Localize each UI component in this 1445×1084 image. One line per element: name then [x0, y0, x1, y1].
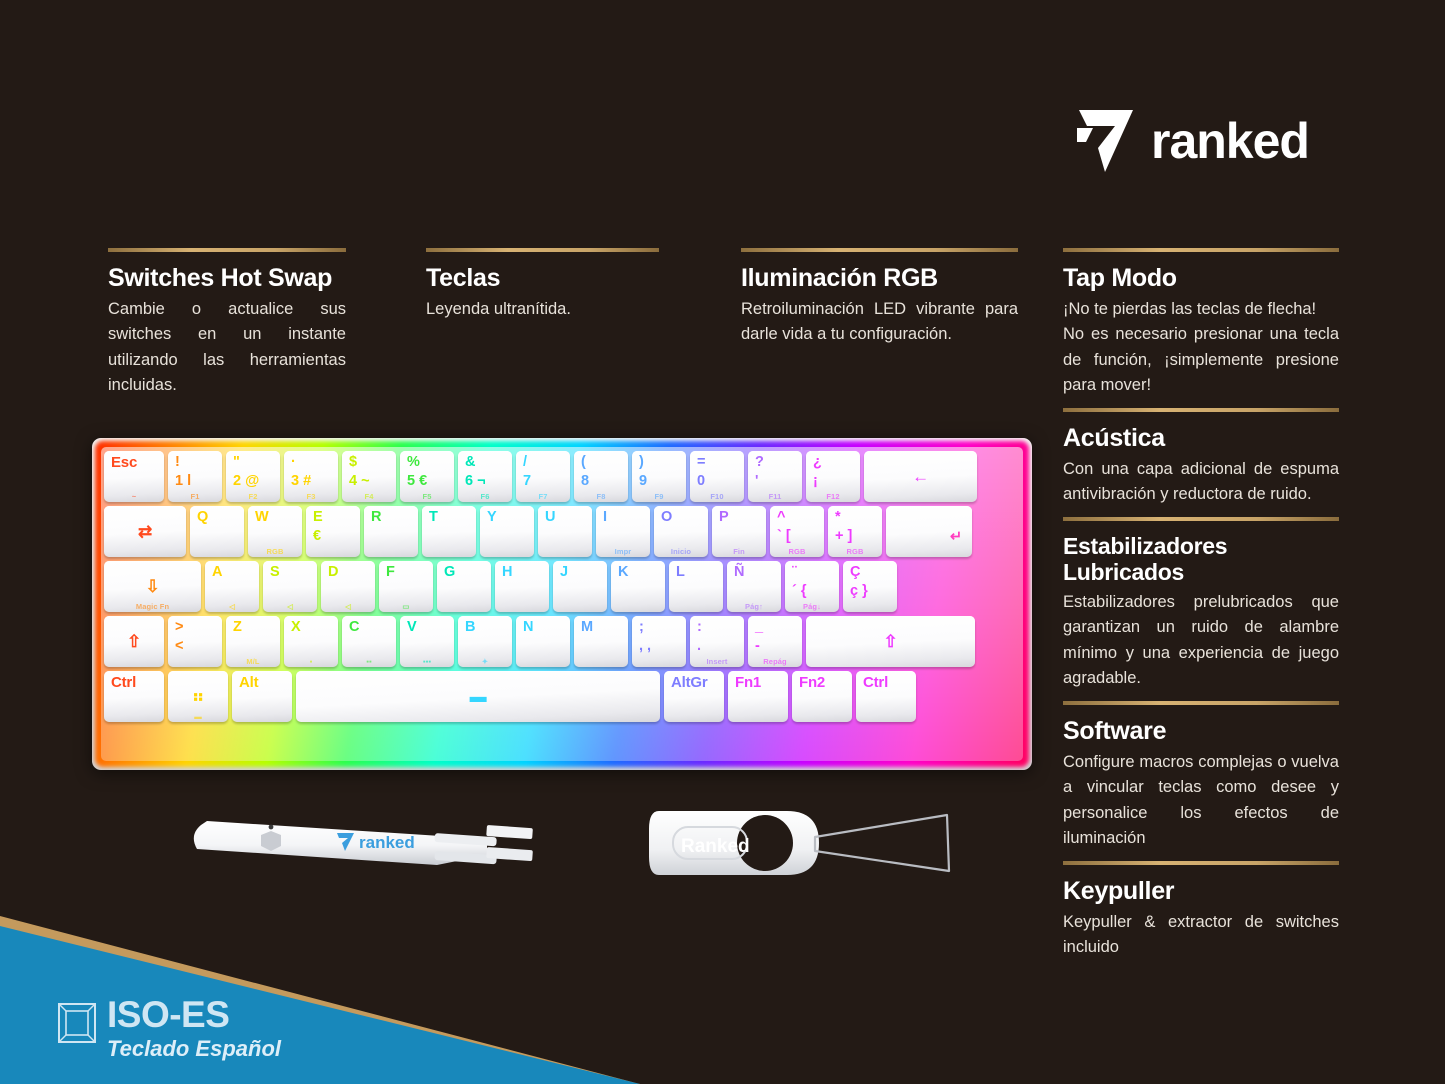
key-altgr[interactable]: AltGr [664, 671, 724, 722]
key--[interactable]: ← [864, 451, 977, 502]
key--[interactable]: ¨´ {Pág↓ [785, 561, 839, 612]
key-legend-sublabel: ▬ [168, 712, 228, 721]
key-legend-primary: ⇧ [883, 633, 897, 651]
key-legend-primary: ⇄ [138, 523, 152, 541]
key-legend-primary: ( [581, 455, 622, 470]
key-legend-primary: W [255, 510, 296, 525]
brand-logo: ranked [1075, 108, 1309, 174]
key-legend-sublabel: ▭ [379, 602, 433, 611]
feature-acustica: Acústica Con una capa adicional de espum… [1063, 408, 1339, 508]
switch-puller-tool-icon: ranked [187, 805, 557, 885]
key-h[interactable]: H [495, 561, 549, 612]
key-d[interactable]: D◁ [321, 561, 375, 612]
key-z[interactable]: ZM/L [226, 616, 280, 667]
key-legend-primary: V [407, 620, 448, 635]
key--[interactable]: ⇄ [104, 506, 186, 557]
key-legend-sublabel: RGB [828, 547, 882, 556]
key--[interactable]: ^` [RGB [770, 506, 824, 557]
key-legend-primary: ⠶ [192, 688, 204, 706]
key-e[interactable]: E€ [306, 506, 360, 557]
gold-rule [1063, 517, 1339, 521]
gold-rule [1063, 861, 1339, 865]
key-row-1: Esc~!1 lF1"2 @F2·3 #F3$4 ~F4%5 €F5&6 ¬F6… [104, 451, 1020, 502]
right-feature-list: Tap Modo ¡No te pierdas las teclas de fl… [1063, 248, 1339, 970]
key-k[interactable]: K [611, 561, 665, 612]
gold-rule [426, 248, 659, 252]
feature-body: Cambie o actualice sus switches en un in… [108, 297, 346, 399]
key-legend-primary: L [676, 565, 717, 580]
key--[interactable]: =0F10 [690, 451, 744, 502]
key--[interactable]: ⠶▬ [168, 671, 228, 722]
key-legend-secondary: € [313, 528, 354, 545]
feature-software: Software Configure macros complejas o vu… [1063, 701, 1339, 852]
top-feature-list: Switches Hot Swap Cambie o actualice sus… [108, 248, 1023, 399]
key-legend-sublabel: F12 [806, 492, 860, 501]
key--[interactable]: /7F7 [516, 451, 570, 502]
key-legend-primary: Esc [111, 455, 158, 471]
key--[interactable]: &6 ¬F6 [458, 451, 512, 502]
key-legend-primary: S [270, 565, 311, 580]
key-legend-sublabel: F7 [516, 492, 570, 501]
key-legend-sublabel: ◁ [321, 602, 375, 611]
key-w[interactable]: WRGB [248, 506, 302, 557]
key-legend-primary: ) [639, 455, 680, 470]
key-legend-secondary: + ] [835, 528, 876, 545]
key-legend-primary: Ñ [734, 565, 775, 580]
key-legend-sublabel: Pág↑ [727, 602, 781, 611]
key-legend-sublabel: Magic Fn [104, 602, 201, 611]
key-legend-sublabel: F10 [690, 492, 744, 501]
key-u[interactable]: U [538, 506, 592, 557]
key-legend-secondary: 1 l [175, 473, 216, 490]
key-legend-sublabel: F6 [458, 492, 512, 501]
key-l[interactable]: L [669, 561, 723, 612]
key-legend-primary: I [603, 510, 644, 525]
key-legend-primary: ? [755, 455, 796, 470]
key-legend-primary: M [581, 620, 622, 635]
key--[interactable]: ⇧ [104, 616, 164, 667]
key-legend-sublabel: Fin [712, 547, 766, 556]
key--[interactable]: ;, , [632, 616, 686, 667]
key-legend-primary: / [523, 455, 564, 470]
key-legend-primary: E [313, 510, 354, 525]
key--[interactable]: )9F9 [632, 451, 686, 502]
key-legend-secondary: . [697, 638, 738, 655]
feature-body: Keypuller & extractor de switches inclui… [1063, 910, 1339, 961]
feature-body: Leyenda ultranítida. [426, 297, 659, 323]
key-row-5: Ctrl⠶▬Alt▬AltGrFn1Fn2Ctrl [104, 671, 1020, 722]
keyboard-product-image: Esc~!1 lF1"2 @F2·3 #F3$4 ~F4%5 €F5&6 ¬F6… [92, 438, 1032, 770]
key-y[interactable]: Y [480, 506, 534, 557]
feature-title: Iluminación RGB [741, 264, 1018, 293]
key-legend-secondary: 8 [581, 473, 622, 490]
key-legend-sublabel: F4 [342, 492, 396, 501]
key-legend-primary: C [349, 620, 390, 635]
key--[interactable]: ↵ [886, 506, 972, 557]
key-legend-primary: ⇧ [127, 633, 141, 651]
feature-teclas: Teclas Leyenda ultranítida. [426, 248, 659, 399]
key-legend-primary: ! [175, 455, 216, 470]
key-x[interactable]: X▪ [284, 616, 338, 667]
key-legend-primary: Z [233, 620, 274, 635]
key-m[interactable]: M [574, 616, 628, 667]
key-fn2[interactable]: Fn2 [792, 671, 852, 722]
key-legend-sublabel: ✦ [458, 657, 512, 666]
key-legend-secondary: 6 ¬ [465, 473, 506, 490]
key-legend-primary: Fn2 [799, 675, 846, 691]
key--[interactable]: ⇧ [806, 616, 975, 667]
key-legend-primary: · [291, 455, 332, 470]
key--[interactable]: ?'F11 [748, 451, 802, 502]
key-legend-sublabel: ~ [104, 492, 164, 501]
key--[interactable]: !1 lF1 [168, 451, 222, 502]
key-legend-primary: N [523, 620, 564, 635]
key--[interactable]: :.Insert [690, 616, 744, 667]
key-o[interactable]: OInicio [654, 506, 708, 557]
key-legend-sublabel: F1 [168, 492, 222, 501]
iso-es-badge: ISO-ES Teclado Español [57, 996, 281, 1063]
key-q[interactable]: Q [190, 506, 244, 557]
key-legend-primary: = [697, 455, 738, 470]
key-legend-sublabel: F5 [400, 492, 454, 501]
key--[interactable]: >< [168, 616, 222, 667]
key--[interactable]: ¿¡F12 [806, 451, 860, 502]
key-legend-primary: % [407, 455, 448, 470]
key-t[interactable]: T [422, 506, 476, 557]
key-legend-primary: Ctrl [863, 675, 910, 691]
key--[interactable]: ⇩Magic Fn [104, 561, 201, 612]
feature-title: Teclas [426, 264, 659, 293]
feature-body: Con una capa adicional de espuma antivib… [1063, 457, 1339, 508]
key-legend-primary: J [560, 565, 601, 580]
key-legend-primary: Q [197, 510, 238, 525]
key-p[interactable]: PFin [712, 506, 766, 557]
keypuller-tool-icon: Ranked [647, 801, 967, 886]
key-i[interactable]: IImpr [596, 506, 650, 557]
key--[interactable]: %5 €F5 [400, 451, 454, 502]
key-legend-primary: ▬ [470, 688, 487, 706]
key-legend-sublabel: Inicio [654, 547, 708, 556]
key-legend-primary: R [371, 510, 412, 525]
key-legend-secondary: < [175, 638, 216, 655]
key-legend-sublabel: F11 [748, 492, 802, 501]
key-legend-sublabel: F8 [574, 492, 628, 501]
key-legend-primary: H [502, 565, 543, 580]
iso-badge-subtitle: Teclado Español [107, 1035, 281, 1063]
key-legend-secondary: ´ { [792, 583, 833, 600]
key-v[interactable]: V▪▪▪ [400, 616, 454, 667]
feature-keypuller: Keypuller Keypuller & extractor de switc… [1063, 861, 1339, 961]
key-ctrl[interactable]: Ctrl [104, 671, 164, 722]
key-b[interactable]: B✦ [458, 616, 512, 667]
key-r[interactable]: R [364, 506, 418, 557]
key--[interactable]: ▬ [296, 671, 660, 722]
key--[interactable]: _-Repág [748, 616, 802, 667]
ranked-arrow-logo-icon [1075, 108, 1137, 174]
key-legend-primary: G [444, 565, 485, 580]
key-legend-secondary: , , [639, 638, 680, 655]
key-row-4: ⇧><ZM/LX▪C▪▪V▪▪▪B✦NM;, ,:.Insert_-Repág⇧ [104, 616, 1020, 667]
key-ctrl[interactable]: Ctrl [856, 671, 916, 722]
key-esc[interactable]: Esc~ [104, 451, 164, 502]
gold-rule [108, 248, 346, 252]
key-legend-sublabel: Insert [690, 657, 744, 666]
key-legend-secondary: 3 # [291, 473, 332, 490]
key-legend-primary: Y [487, 510, 528, 525]
feature-title: Keypuller [1063, 877, 1339, 906]
key-f[interactable]: F▭ [379, 561, 433, 612]
key-legend-primary: $ [349, 455, 390, 470]
key-legend-primary: X [291, 620, 332, 635]
key-legend-sublabel: Impr [596, 547, 650, 556]
gold-rule [741, 248, 1018, 252]
key-j[interactable]: J [553, 561, 607, 612]
keycap-cube-icon [57, 1002, 97, 1044]
key-legend-primary: U [545, 510, 586, 525]
key-legend-sublabel: F9 [632, 492, 686, 501]
svg-text:ranked: ranked [359, 833, 415, 852]
key-legend-sublabel: F3 [284, 492, 338, 501]
key-legend-primary: Ctrl [111, 675, 158, 691]
key-legend-secondary: 5 € [407, 473, 448, 490]
key-legend-primary: O [661, 510, 702, 525]
key-legend-secondary: ' [755, 473, 796, 490]
key-legend-sublabel: F2 [226, 492, 280, 501]
feature-tap-modo: Tap Modo ¡No te pierdas las teclas de fl… [1063, 248, 1339, 399]
key-legend-primary: > [175, 620, 216, 635]
key-legend-primary: ^ [777, 510, 818, 525]
iso-badge-title: ISO-ES [107, 996, 281, 1033]
key-legend-primary: ; [639, 620, 680, 635]
feature-title: Tap Modo [1063, 264, 1339, 293]
key-legend-secondary: 2 @ [233, 473, 274, 490]
key-rows: Esc~!1 lF1"2 @F2·3 #F3$4 ~F4%5 €F5&6 ¬F6… [104, 451, 1020, 726]
key-legend-primary: Alt [239, 675, 286, 691]
key-row-2: ⇄QWRGBE€RTYUIImprOInicioPFin^` [RGB*+ ]R… [104, 506, 1020, 557]
key--[interactable]: "2 @F2 [226, 451, 280, 502]
key-legend-primary: F [386, 565, 427, 580]
feature-title: Estabilizadores Lubricados [1063, 533, 1339, 586]
key-legend-primary: Fn1 [735, 675, 782, 691]
feature-body: Estabilizadores prelubricados que garant… [1063, 590, 1339, 692]
key-n[interactable]: N [516, 616, 570, 667]
key-legend-primary: T [429, 510, 470, 525]
key-legend-primary: & [465, 455, 506, 470]
key--[interactable]: $4 ~F4 [342, 451, 396, 502]
feature-title: Acústica [1063, 424, 1339, 453]
key-legend-sublabel: ▪▪▪ [400, 657, 454, 666]
key--[interactable]: (8F8 [574, 451, 628, 502]
gold-rule [1063, 248, 1339, 252]
feature-title: Software [1063, 717, 1339, 746]
key-legend-primary: ¿ [813, 455, 854, 470]
key-legend-secondary: 4 ~ [349, 473, 390, 490]
feature-body: Retroiluminación LED vibrante para darle… [741, 297, 1018, 348]
key-legend-secondary: 9 [639, 473, 680, 490]
key-row-3: ⇩Magic FnA◁S◁D◁F▭GHJKLÑPág↑¨´ {Pág↓Çç } [104, 561, 1020, 612]
key-legend-secondary: ` [ [777, 528, 818, 545]
key-legend-primary: AltGr [671, 675, 718, 691]
feature-estabilizadores-lubricados: Estabilizadores Lubricados Estabilizador… [1063, 517, 1339, 692]
key-legend-sublabel: M/L [226, 657, 280, 666]
key--[interactable]: Çç } [843, 561, 897, 612]
key--[interactable]: ÑPág↑ [727, 561, 781, 612]
key-legend-primary: ¨ [792, 565, 833, 580]
key-legend-primary: : [697, 620, 738, 635]
key-legend-sublabel: ▪▪ [342, 657, 396, 666]
key-legend-secondary: - [755, 638, 796, 655]
key-legend-primary: P [719, 510, 760, 525]
accessories-row: ranked Ranked [92, 795, 1032, 900]
gold-rule [1063, 701, 1339, 705]
key-c[interactable]: C▪▪ [342, 616, 396, 667]
brand-wordmark: ranked [1151, 116, 1309, 166]
feature-body: Configure macros complejas o vuelva a vi… [1063, 750, 1339, 852]
keypuller-label: Ranked [681, 836, 750, 857]
feature-iluminacion-rgb: Iluminación RGB Retroiluminación LED vib… [741, 248, 1018, 399]
key-legend-secondary: ç } [850, 583, 891, 600]
key-legend-primary: K [618, 565, 659, 580]
key--[interactable]: ·3 #F3 [284, 451, 338, 502]
key-legend-sublabel: RGB [770, 547, 824, 556]
key-legend-secondary: ¡ [813, 473, 854, 490]
key-fn1[interactable]: Fn1 [728, 671, 788, 722]
feature-switches-hot-swap: Switches Hot Swap Cambie o actualice sus… [108, 248, 346, 399]
key-legend-sublabel: ◁ [263, 602, 317, 611]
key-g[interactable]: G [437, 561, 491, 612]
key-legend-primary: " [233, 455, 274, 470]
key-legend-primary: _ [755, 620, 796, 635]
key-legend-primary: ⇩ [145, 578, 159, 596]
key-legend-primary: B [465, 620, 506, 635]
key-legend-primary: A [212, 565, 253, 580]
key-legend-primary: ← [912, 468, 929, 486]
key-legend-primary: Ç [850, 565, 891, 580]
key-legend-sublabel: ◁ [205, 602, 259, 611]
key-alt[interactable]: Alt [232, 671, 292, 722]
feature-body: ¡No te pierdas las teclas de flecha! No … [1063, 297, 1339, 399]
key--[interactable]: *+ ]RGB [828, 506, 882, 557]
feature-title: Switches Hot Swap [108, 264, 346, 293]
key-legend-primary: D [328, 565, 369, 580]
key-legend-sublabel: Pág↓ [785, 602, 839, 611]
key-s[interactable]: S◁ [263, 561, 317, 612]
key-legend-primary: ↵ [950, 530, 962, 545]
key-legend-secondary: 0 [697, 473, 738, 490]
gold-rule [1063, 408, 1339, 412]
key-legend-sublabel: RGB [248, 547, 302, 556]
key-legend-primary: * [835, 510, 876, 525]
key-a[interactable]: A◁ [205, 561, 259, 612]
key-legend-secondary: 7 [523, 473, 564, 490]
key-legend-sublabel: ▪ [284, 657, 338, 666]
key-legend-sublabel: Repág [748, 657, 802, 666]
